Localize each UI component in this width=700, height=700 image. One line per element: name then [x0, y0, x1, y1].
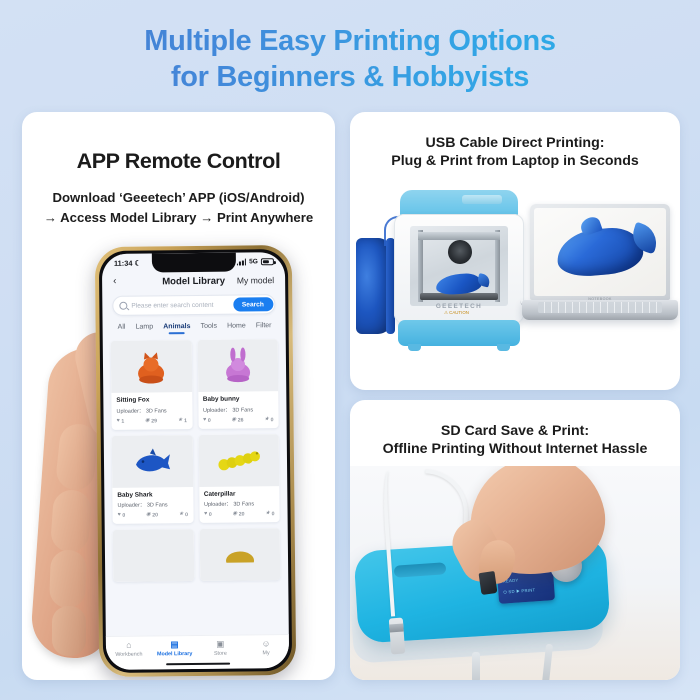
lcd-line-2: ⏻ SD ▶ PRINT: [503, 587, 535, 594]
status-bar-left: 11:34 ☾: [114, 259, 141, 268]
tab-tools[interactable]: Tools: [196, 323, 223, 334]
tabbar-label: My: [243, 650, 289, 656]
model-likes-count: 1: [121, 418, 124, 424]
page-title-line-2: for Beginners & Hobbyists: [0, 60, 700, 96]
tabbar-item-my[interactable]: ☺ My: [243, 639, 289, 656]
model-stars: ★0: [179, 512, 188, 518]
sd-card-heading: SD Card Save & Print: Offline Printing W…: [350, 422, 680, 459]
model-stars-count: 1: [184, 418, 187, 424]
eye-icon: ◉: [231, 417, 236, 422]
usb-printing-illustration: ⚠ CAUTION GEEETECH NOTEBOOK: [350, 180, 680, 386]
signal-bars-icon: [237, 258, 246, 265]
model-stats: ♥0 ◉26 ★0: [203, 417, 274, 424]
usb-card-heading-line-1: USB Cable Direct Printing:: [426, 135, 605, 151]
tabbar-label: Workbench: [106, 651, 152, 657]
nav-title: Model Library: [162, 275, 225, 287]
tabbar-item-store[interactable]: ▣ Store: [197, 640, 243, 657]
tabbar-item-workbench[interactable]: ⌂ Workbench: [106, 640, 152, 657]
model-name: Caterpillar: [204, 490, 275, 498]
usb-card-heading: USB Cable Direct Printing: Plug & Print …: [350, 134, 680, 171]
search-row: Please enter search content Search: [102, 285, 285, 316]
model-likes: ♥0: [118, 513, 126, 519]
tab-filter[interactable]: Filter: [251, 322, 277, 333]
sd-card-printing-card: SD Card Save & Print: Offline Printing W…: [350, 400, 680, 680]
printer-window: [410, 226, 508, 306]
model-uploader: Uploader： 3D Fans: [204, 499, 275, 508]
model-card[interactable]: Caterpillar Uploader： 3D Fans ♥0 ◉20 ★0: [198, 434, 279, 523]
gold-model-icon: [225, 546, 255, 562]
model-views-count: 20: [239, 511, 245, 517]
shark-3d-model-preview: [555, 225, 645, 278]
printer-extruder: [448, 240, 472, 264]
model-stats: ♥1 ◉29 ★1: [117, 418, 188, 425]
star-icon: ★: [178, 418, 183, 423]
laptop-base: [522, 300, 678, 320]
fox-icon: [134, 348, 168, 384]
model-card-body: Baby Shark Uploader： 3D Fans ♥0 ◉20 ★0: [112, 487, 193, 524]
app-card-subtitle: Download ‘Geeetech’ APP (iOS/Android) → …: [22, 188, 335, 229]
printer-rail-right: [495, 230, 500, 302]
model-card-partial[interactable]: [199, 528, 280, 581]
model-stars: ★1: [178, 418, 187, 424]
tab-animals[interactable]: Animals: [158, 323, 195, 334]
model-views: ◉26: [231, 417, 243, 423]
usb-printing-card: USB Cable Direct Printing: Plug & Print …: [350, 112, 680, 390]
sd-memory-card[interactable]: [479, 571, 498, 595]
model-card[interactable]: Sitting Fox Uploader： 3D Fans ♥1 ◉29 ★1: [111, 340, 192, 429]
model-views: ◉29: [145, 418, 157, 424]
printer-warning-label: ⚠ CAUTION: [444, 310, 469, 316]
smartphone-device: 11:34 ☾ 5G ‹ Model Library My mod: [95, 245, 296, 677]
moon-icon: ☾: [134, 259, 141, 268]
laptop-screen: [534, 208, 666, 296]
model-likes: ♥0: [204, 512, 212, 518]
model-likes: ♥0: [203, 417, 211, 423]
model-card-body: Sitting Fox Uploader： 3D Fans ♥1 ◉29 ★1: [111, 392, 192, 429]
app-card-subtitle-line-1: Download ‘Geeetech’ APP (iOS/Android): [52, 190, 304, 205]
printer-leg-left: [472, 652, 480, 680]
tube-connector: [389, 618, 405, 655]
model-stars-count: 0: [272, 511, 275, 517]
model-views-count: 29: [151, 418, 157, 424]
model-stats: ♥0 ◉20 ★0: [118, 512, 189, 519]
model-card[interactable]: Baby Shark Uploader： 3D Fans ♥0 ◉20 ★0: [112, 435, 193, 524]
tab-lamp[interactable]: Lamp: [130, 323, 158, 334]
laptop: NOTEBOOK: [522, 204, 678, 340]
heart-icon: ♥: [204, 512, 207, 517]
workbench-icon: ⌂: [106, 640, 152, 649]
model-library-icon: ▤: [152, 640, 198, 649]
model-card[interactable]: Baby bunny Uploader： 3D Fans ♥0 ◉26 ★0: [197, 339, 278, 428]
my-model-link[interactable]: My model: [237, 275, 274, 285]
phone-illustration: 11:34 ☾ 5G ‹ Model Library My mod: [22, 228, 335, 680]
tabbar-label: Model Library: [152, 651, 198, 657]
filament-spool: [356, 238, 392, 334]
phone-notch: [151, 253, 235, 273]
model-likes-count: 0: [209, 512, 212, 518]
3d-printer: ⚠ CAUTION GEEETECH: [394, 190, 524, 352]
eye-icon: ◉: [145, 418, 150, 423]
printer-foot-right: [497, 344, 510, 351]
model-name: Baby Shark: [117, 491, 188, 499]
phone-screen: 11:34 ☾ 5G ‹ Model Library My mod: [102, 252, 289, 670]
app-card-subtitle-line-2: → Access Model Library → Print Anywhere: [22, 208, 335, 228]
model-card-body: Caterpillar Uploader： 3D Fans ♥0 ◉20 ★0: [199, 486, 280, 523]
model-card-partial[interactable]: [113, 529, 194, 582]
model-thumbnail: [113, 529, 194, 582]
back-arrow-icon[interactable]: ‹: [113, 277, 116, 287]
printer-base: [398, 320, 520, 346]
printer-vent: [462, 195, 502, 204]
printer-body: ⚠ CAUTION GEEETECH: [394, 214, 524, 324]
app-card-title: APP Remote Control: [22, 148, 335, 176]
model-uploader: Uploader： 3D Fans: [117, 500, 188, 509]
printer-bed: [420, 293, 498, 300]
printer-gantry: [418, 232, 500, 240]
heart-icon: ♥: [203, 418, 206, 423]
status-time: 11:34: [114, 259, 133, 268]
search-button[interactable]: Search: [233, 297, 273, 312]
model-card-body: Baby bunny Uploader： 3D Fans ♥0 ◉26 ★0: [198, 391, 279, 428]
model-stars: ★0: [264, 417, 273, 423]
app-remote-control-card: APP Remote Control Download ‘Geeetech’ A…: [22, 112, 335, 680]
model-thumbnail: [199, 528, 280, 581]
printer-rail-left: [418, 230, 423, 302]
model-thumbnail: [197, 339, 278, 392]
model-stars-count: 0: [271, 417, 274, 423]
model-uploader: Uploader： 3D Fans: [116, 406, 187, 415]
heart-icon: ♥: [118, 513, 121, 518]
usb-card-heading-line-2: Plug & Print from Laptop in Seconds: [366, 152, 664, 170]
page-title-line-1: Multiple Easy Printing Options: [0, 24, 700, 60]
model-stats: ♥0 ◉20 ★0: [204, 511, 275, 518]
tab-all[interactable]: All: [113, 324, 131, 335]
category-tabs: All Lamp Animals Tools Home Filter: [102, 314, 285, 335]
tabbar-item-model-library[interactable]: ▤ Model Library: [152, 640, 198, 657]
printer-foot-left: [408, 344, 421, 351]
hand-finger-4: [52, 606, 86, 656]
model-thumbnail: [111, 340, 192, 393]
laptop-keyboard: [538, 302, 662, 313]
model-views-count: 20: [152, 512, 158, 518]
sd-card-heading-line-1: SD Card Save & Print:: [441, 423, 589, 439]
bunny-icon: [222, 347, 254, 383]
star-icon: ★: [179, 512, 184, 517]
search-placeholder: Please enter search content: [131, 301, 233, 309]
model-views: ◉20: [146, 512, 158, 518]
model-thumbnail: [112, 435, 193, 488]
printer-brand-logo: GEEETECH: [394, 303, 524, 310]
model-stars-count: 0: [185, 512, 188, 518]
model-likes: ♥1: [117, 418, 125, 424]
eye-icon: ◉: [232, 512, 237, 517]
hand-finger-3: [49, 549, 87, 608]
profile-icon: ☺: [243, 639, 289, 648]
model-name: Baby bunny: [203, 395, 274, 403]
model-views-count: 26: [238, 417, 244, 423]
network-label: 5G: [249, 258, 258, 265]
model-grid: Sitting Fox Uploader： 3D Fans ♥1 ◉29 ★1: [103, 333, 289, 582]
sd-card-heading-line-2: Offline Printing Without Internet Hassle: [366, 440, 664, 458]
model-likes-count: 0: [122, 513, 125, 519]
page-title: Multiple Easy Printing Options for Begin…: [0, 24, 700, 96]
shark-icon: [132, 448, 172, 474]
model-views: ◉20: [232, 511, 244, 517]
tab-home[interactable]: Home: [222, 322, 251, 333]
status-bar-right: 5G: [237, 258, 274, 265]
sd-card-illustration: READY ⏻ SD ▶ PRINT: [350, 466, 680, 680]
search-icon: [119, 302, 127, 310]
phone-bezel: 11:34 ☾ 5G ‹ Model Library My mod: [99, 249, 292, 673]
star-icon: ★: [265, 512, 270, 517]
star-icon: ★: [264, 417, 269, 422]
model-thumbnail: [198, 434, 279, 487]
model-likes-count: 0: [208, 417, 211, 423]
eye-icon: ◉: [146, 513, 151, 518]
model-uploader: Uploader： 3D Fans: [203, 405, 274, 414]
battery-icon: [261, 258, 274, 265]
hand-finger-2: [50, 489, 92, 553]
model-stars: ★0: [265, 511, 274, 517]
model-name: Sitting Fox: [116, 396, 187, 404]
heart-icon: ♥: [117, 419, 120, 424]
search-input[interactable]: Please enter search content Search: [112, 294, 275, 316]
laptop-lid: NOTEBOOK: [530, 204, 670, 300]
store-icon: ▣: [197, 640, 243, 649]
caterpillar-icon: [217, 448, 261, 472]
tabbar-label: Store: [197, 650, 243, 656]
